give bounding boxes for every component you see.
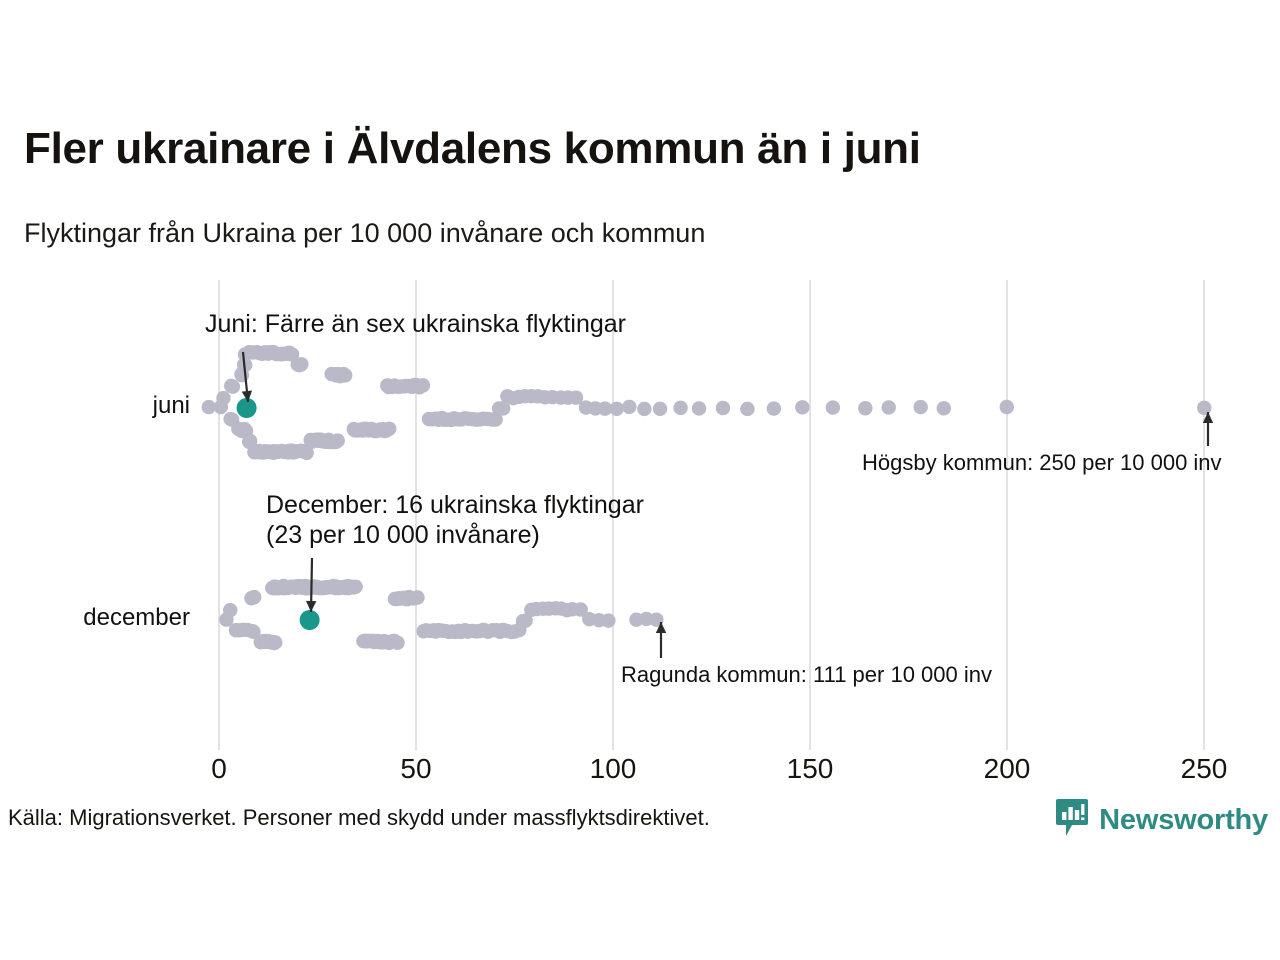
swarm-dot	[294, 357, 308, 371]
swarm-dot	[622, 400, 636, 414]
x-tick-label-50: 50	[400, 753, 431, 785]
december-highlight-annotation-line-2: (23 per 10 000 invånare)	[266, 521, 644, 551]
swarm-dot	[601, 613, 615, 627]
juni-highlight-annotation-line-1: Juni: Färre än sex ukrainska flyktingar	[205, 310, 626, 340]
hogsby-annotation: Högsby kommun: 250 per 10 000 inv	[862, 450, 1222, 476]
swarm-dot	[268, 635, 282, 649]
swarm-dot	[653, 402, 667, 416]
highlight-dot-juni[interactable]	[237, 398, 257, 418]
swarm-dot	[882, 400, 896, 414]
chart-subtitle: Flyktingar från Ukraina per 10 000 invån…	[24, 218, 705, 249]
swarm-dot	[609, 402, 623, 416]
swarm-dot	[410, 590, 424, 604]
x-tick-label-150: 150	[787, 753, 834, 785]
swarm-dot	[331, 433, 345, 447]
december-highlight-annotation-line-1: December: 16 ukrainska flyktingar	[266, 491, 644, 521]
swarm-dot	[740, 402, 754, 416]
highlight-dot-december[interactable]	[300, 610, 320, 630]
december-highlight-annotation: December: 16 ukrainska flyktingar(23 per…	[266, 491, 644, 550]
juni-highlight-annotation: Juni: Färre än sex ukrainska flyktingar	[205, 310, 626, 340]
brand-name: Newsworthy	[1099, 804, 1268, 837]
ragunda-annotation-line-1: Ragunda kommun: 111 per 10 000 inv	[621, 662, 992, 688]
swarm-dot	[226, 380, 240, 394]
x-tick-label-100: 100	[590, 753, 637, 785]
swarm-dot	[637, 402, 651, 416]
swarm-dot	[716, 401, 730, 415]
swarm-dot	[858, 401, 872, 415]
swarm-dot	[914, 400, 928, 414]
swarm-dot	[673, 401, 687, 415]
swarm-dot	[795, 400, 809, 414]
swarm-dot	[767, 401, 781, 415]
newsworthy-logo[interactable]: Newsworthy	[1055, 798, 1268, 843]
swarm-dot	[216, 391, 230, 405]
page-title: Fler ukrainare i Älvdalens kommun än i j…	[24, 124, 921, 174]
hogsby-annotation-line-1: Högsby kommun: 250 per 10 000 inv	[862, 450, 1222, 476]
swarm-dot	[692, 401, 706, 415]
swarm-dot	[937, 401, 951, 415]
swarm-dot	[1000, 400, 1014, 414]
swarm-dot	[390, 636, 404, 650]
chart-root: Fler ukrainare i Älvdalens kommun än i j…	[0, 0, 1280, 960]
swarm-dot	[416, 378, 430, 392]
x-tick-label-250: 250	[1181, 753, 1228, 785]
ragunda-annotation: Ragunda kommun: 111 per 10 000 inv	[621, 662, 992, 688]
source-note: Källa: Migrationsverket. Personer med sk…	[8, 805, 710, 831]
category-label-juni: juni	[153, 392, 190, 420]
x-tick-label-200: 200	[984, 753, 1031, 785]
swarm-dot	[348, 580, 362, 594]
x-tick-label-0: 0	[211, 753, 227, 785]
category-label-december: december	[83, 604, 190, 632]
swarm-dot	[649, 612, 663, 626]
swarm-dot	[338, 368, 352, 382]
swarm-dot	[223, 603, 237, 617]
swarm-dot	[382, 422, 396, 436]
bar-chart-speech-bubble-icon	[1055, 798, 1089, 843]
swarm-dot	[247, 590, 261, 604]
swarm-dot	[826, 400, 840, 414]
swarm-dot	[1197, 401, 1211, 415]
